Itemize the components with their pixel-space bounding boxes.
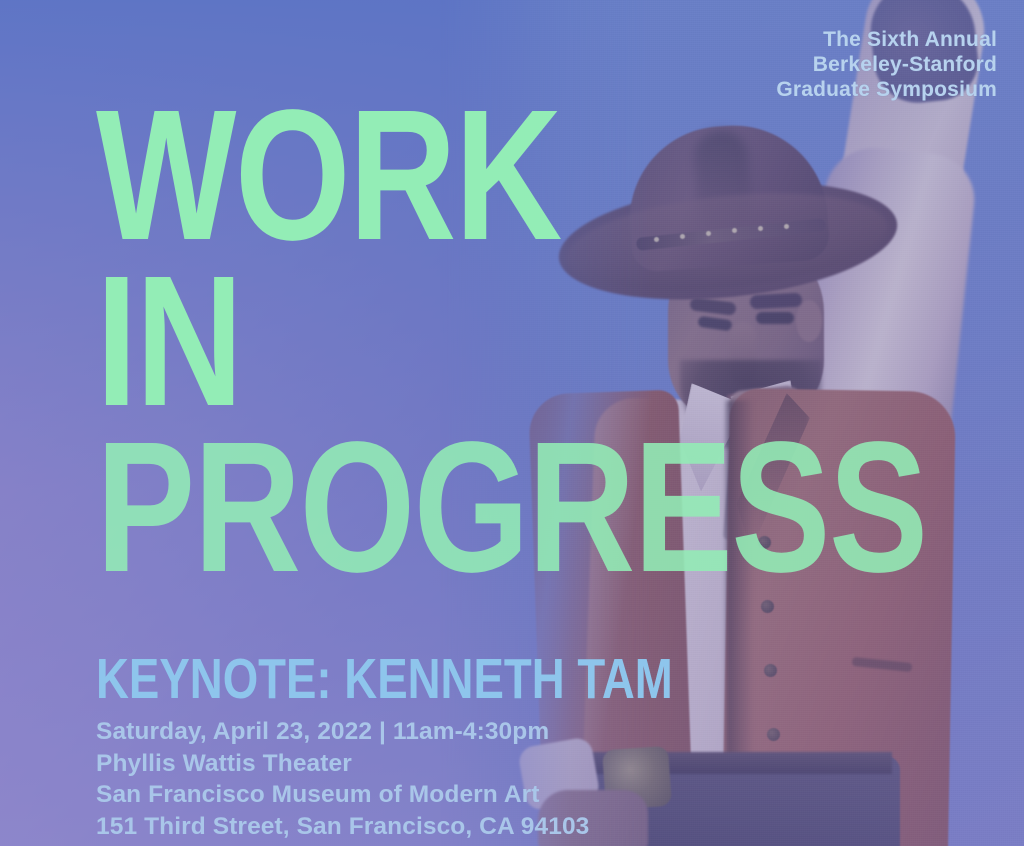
title-line-in: IN <box>96 262 927 422</box>
title-line-work: WORK <box>96 96 927 256</box>
header-line-2: Berkeley-Stanford <box>776 53 997 78</box>
keynote-speaker: KEYNOTE: KENNETH TAM <box>96 651 673 708</box>
title-line-progress: PROGRESS <box>96 428 927 588</box>
event-venue: Phyllis Wattis Theater <box>96 748 817 780</box>
event-institution: San Francisco Museum of Modern Art <box>96 779 817 811</box>
event-details: KEYNOTE: KENNETH TAM Saturday, April 23,… <box>96 651 817 842</box>
poster-title: WORK IN PROGRESS <box>96 96 1024 594</box>
symposium-header: The Sixth Annual Berkeley-Stanford Gradu… <box>776 28 997 103</box>
poster: The Sixth Annual Berkeley-Stanford Gradu… <box>0 0 1024 846</box>
event-address: 151 Third Street, San Francisco, CA 9410… <box>96 811 817 843</box>
event-datetime: Saturday, April 23, 2022 | 11am-4:30pm <box>96 716 817 748</box>
header-line-1: The Sixth Annual <box>776 28 997 53</box>
